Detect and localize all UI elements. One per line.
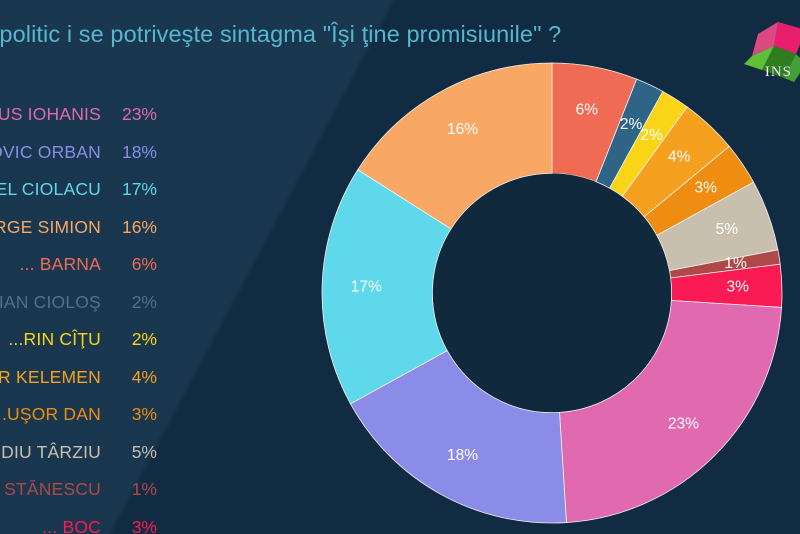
chart-page: ...lider politic i se potriveşte sintagm… xyxy=(0,0,800,534)
donut-hole xyxy=(432,173,671,412)
legend-item-label: ... BOC xyxy=(0,517,101,534)
legend-item[interactable]: ...OVIC ORBAN18% xyxy=(0,142,157,180)
legend-item-value: 5% xyxy=(101,442,157,463)
legend-item-value: 2% xyxy=(101,292,157,313)
donut-slice-label: 3% xyxy=(695,180,718,197)
logo-caption: INS xyxy=(765,64,792,81)
donut-slice-label: 2% xyxy=(640,127,663,144)
legend-item-label: ...IAN CIOLOŞ xyxy=(0,292,101,313)
legend-item-value: 2% xyxy=(101,329,157,350)
legend-item[interactable]: ...RGE SIMION16% xyxy=(0,217,157,255)
legend-item[interactable]: ...IAN CIOLOŞ2% xyxy=(0,292,157,330)
donut-slice-label: 18% xyxy=(447,447,478,464)
legend-item[interactable]: ...CEL CIOLACU17% xyxy=(0,179,157,217)
legend-item-value: 16% xyxy=(101,217,157,238)
legend-item-label: ...UŞOR DAN xyxy=(0,404,101,425)
page-title: ...lider politic i se potriveşte sintagm… xyxy=(0,20,688,48)
donut-chart: 6%2%2%4%3%5%1%3%23%18%17%16% xyxy=(316,57,788,529)
legend-item[interactable]: ...UDIU TÂRZIU5% xyxy=(0,442,157,480)
legend-item-value: 17% xyxy=(101,179,157,200)
legend-item-label: ...L STĂNESCU xyxy=(0,479,101,500)
legend-item-value: 23% xyxy=(101,104,157,125)
legend-item[interactable]: ...L STĂNESCU1% xyxy=(0,479,157,517)
donut-slice-label: 23% xyxy=(668,416,699,433)
legend-item-value: 4% xyxy=(101,367,157,388)
legend-item-label: ... BARNA xyxy=(0,254,101,275)
donut-chart-svg: 6%2%2%4%3%5%1%3%23%18%17%16% xyxy=(316,57,788,529)
legend-item[interactable]: ... BARNA6% xyxy=(0,254,157,292)
donut-slice-label: 3% xyxy=(727,278,750,295)
legend-item-value: 3% xyxy=(101,517,157,534)
donut-slice-label: 16% xyxy=(447,121,478,138)
legend-item[interactable]: ...US IOHANIS23% xyxy=(0,104,157,142)
legend-item[interactable]: ...OR KELEMEN4% xyxy=(0,367,157,405)
legend-item[interactable]: ... BOC3% xyxy=(0,517,157,534)
legend-item-value: 1% xyxy=(101,479,157,500)
legend-item[interactable]: ...RIN CÎŢU2% xyxy=(0,329,157,367)
legend-item-value: 3% xyxy=(101,404,157,425)
legend-item-label: ...RIN CÎŢU xyxy=(0,329,101,350)
donut-slice-label: 6% xyxy=(576,102,599,119)
legend-item[interactable]: ...UŞOR DAN3% xyxy=(0,404,157,442)
donut-slice-label: 5% xyxy=(716,221,739,238)
legend-item-label: ...UDIU TÂRZIU xyxy=(0,442,101,463)
legend-item-label: ...US IOHANIS xyxy=(0,104,101,125)
donut-slice-label: 4% xyxy=(668,149,691,166)
legend-item-value: 6% xyxy=(101,254,157,275)
chart-legend: ...US IOHANIS23%...OVIC ORBAN18%...CEL C… xyxy=(0,104,157,534)
legend-item-label: ...RGE SIMION xyxy=(0,217,101,238)
legend-item-label: ...CEL CIOLACU xyxy=(0,179,101,200)
legend-item-value: 18% xyxy=(101,142,157,163)
donut-slice-label: 2% xyxy=(620,116,643,133)
donut-slice-label: 17% xyxy=(351,278,382,295)
legend-item-label: ...OR KELEMEN xyxy=(0,367,101,388)
legend-item-label: ...OVIC ORBAN xyxy=(0,142,101,163)
